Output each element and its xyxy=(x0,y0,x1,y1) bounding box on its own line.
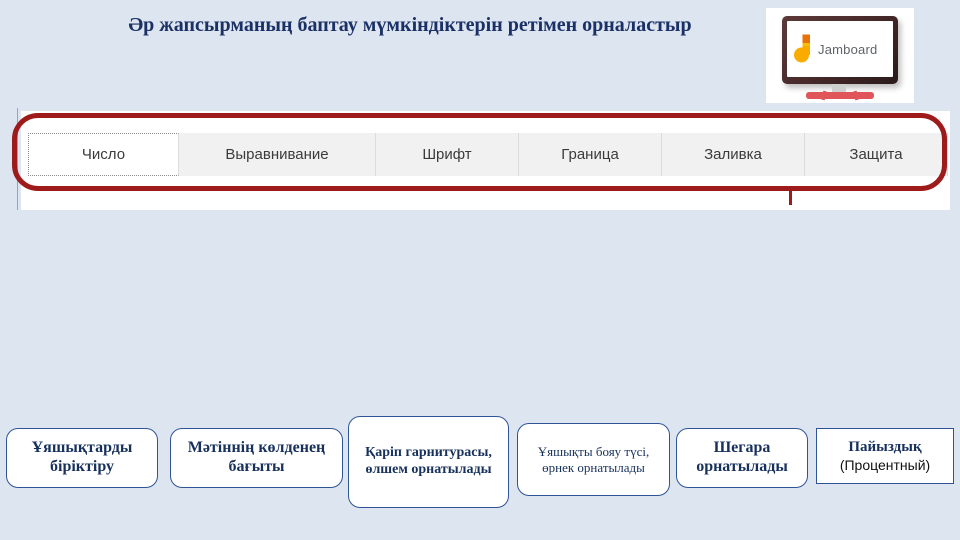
tab-chislo[interactable]: Число xyxy=(28,133,179,176)
callout-label: Ұяшықты бояу түсі, өрнек орнатылады xyxy=(522,444,665,475)
callout-label: Мәтіннің көлденең бағыты xyxy=(175,439,338,477)
monitor-screen: Jamboard xyxy=(787,21,893,77)
jamboard-wordmark: Jamboard xyxy=(818,42,877,57)
callout-label: Қаріп гарнитурасы, өлшем орнатылады xyxy=(353,445,504,478)
monitor-icon: Jamboard xyxy=(782,16,898,84)
monitor-stand-base xyxy=(806,92,874,99)
tab-vyravnivanie[interactable]: Выравнивание xyxy=(179,133,376,176)
tab-label: Заливка xyxy=(698,146,768,163)
callout-merge-cells: Ұяшықтарды біріктіру xyxy=(6,428,158,488)
callout-border-settings: Шегара орнатылады xyxy=(676,428,808,488)
tab-label: Защита xyxy=(843,146,908,163)
callout-label-main: Пайыздық xyxy=(840,439,930,457)
callout-label-sub: (Процентный) xyxy=(840,457,930,474)
ribbon-left-rule xyxy=(17,108,18,210)
tab-label: Граница xyxy=(555,146,625,163)
tab-granitsa[interactable]: Граница xyxy=(519,133,662,176)
callout-label: Шегара орнатылады xyxy=(681,439,803,477)
callout-font-settings: Қаріп гарнитурасы, өлшем орнатылады xyxy=(348,416,509,508)
tab-shrift[interactable]: Шрифт xyxy=(376,133,519,176)
jamboard-logo-card: Jamboard xyxy=(766,8,914,103)
callout-label: Ұяшықтарды біріктіру xyxy=(11,439,153,477)
callout-cell-fill: Ұяшықты бояу түсі, өрнек орнатылады xyxy=(517,423,670,496)
callout-percent-format: Пайыздық (Процентный) xyxy=(816,428,954,484)
format-cells-tabstrip[interactable]: Число Выравнивание Шрифт Граница Заливка… xyxy=(28,133,949,176)
tab-label: Выравнивание xyxy=(219,146,334,163)
tab-zashchita[interactable]: Защита xyxy=(805,133,948,176)
red-pointer-tick xyxy=(789,189,792,205)
tab-label: Шрифт xyxy=(416,146,477,163)
page-title: Әр жапсырманың баптау мүмкіндіктерін рет… xyxy=(60,12,760,38)
tab-zalivka[interactable]: Заливка xyxy=(662,133,805,176)
jamboard-j-glyph xyxy=(794,34,813,64)
tab-label: Число xyxy=(76,146,131,163)
callout-text-horizontal: Мәтіннің көлденең бағыты xyxy=(170,428,343,488)
